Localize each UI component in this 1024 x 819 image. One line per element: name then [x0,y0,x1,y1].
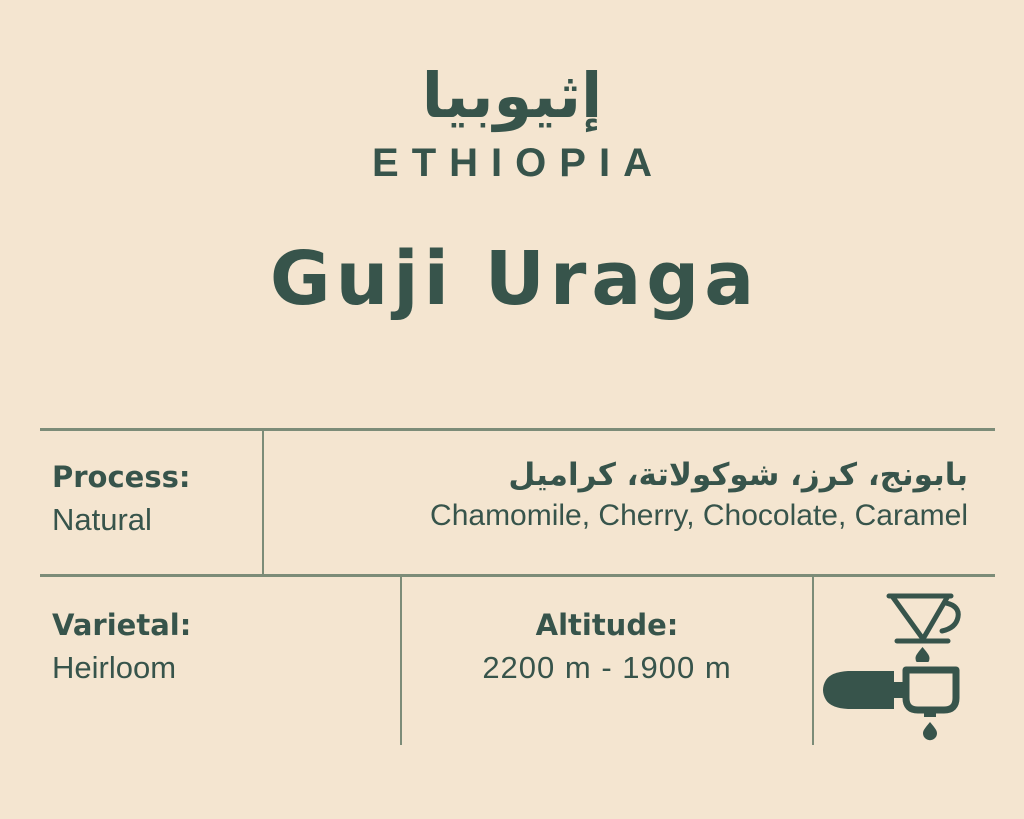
portafilter-spout-icon [924,708,936,717]
process-label: Process: [52,460,252,495]
spec-altitude: Altitude: 2200 m - 1900 m [404,608,810,686]
espresso-portafilter-icon [818,658,968,744]
tasting-notes-arabic: بابونج، كرز، شوكولاتة، كراميل [300,458,968,494]
origin-name-arabic: إثيوبيا [0,0,1024,127]
brew-method-icons [814,580,1024,745]
process-value: Natural [52,495,252,538]
portafilter-drip-icon [923,722,937,740]
spec-tasting-notes: بابونج، كرز، شوكولاتة، كراميل Chamomile,… [300,458,968,534]
divider-vertical-varietal [400,577,402,745]
pourover-dripper-icon [882,586,968,662]
divider-vertical-process [262,430,264,575]
divider-horizontal-middle [40,574,995,577]
spec-process: Process: Natural [52,460,252,538]
coffee-label: إثيوبيا ETHIOPIA Guji Uraga Process: Nat… [0,0,1024,819]
divider-horizontal-top [40,428,995,431]
altitude-value: 2200 m - 1900 m [404,643,810,686]
portafilter-handle-icon [823,671,894,709]
tasting-notes-latin: Chamomile, Cherry, Chocolate, Caramel [300,494,968,534]
altitude-label: Altitude: [404,608,810,643]
varietal-value: Heirloom [52,643,372,686]
varietal-label: Varietal: [52,608,372,643]
label-header: إثيوبيا ETHIOPIA Guji Uraga [0,0,1024,319]
origin-name-latin: ETHIOPIA [0,127,1024,183]
coffee-name-title: Guji Uraga [0,183,1024,319]
portafilter-basket-icon [906,670,956,710]
spec-varietal: Varietal: Heirloom [52,608,372,686]
